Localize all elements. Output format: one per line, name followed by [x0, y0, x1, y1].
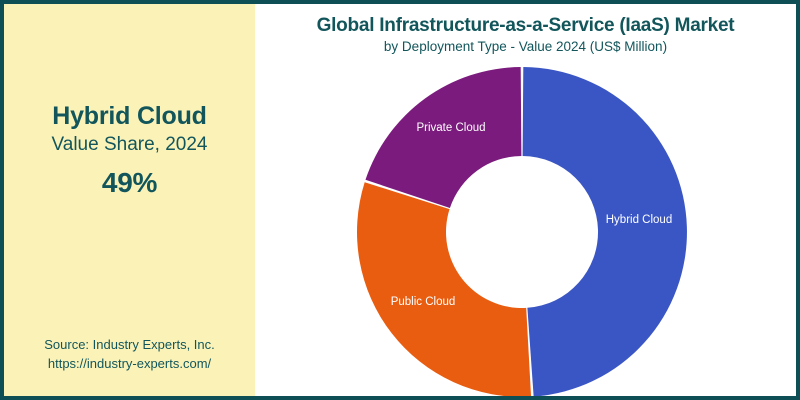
slice-label-private-cloud: Private Cloud	[416, 122, 485, 134]
donut-chart: Hybrid CloudPublic CloudPrivate Cloud	[255, 4, 800, 396]
highlight-panel: Hybrid Cloud Value Share, 2024 49% Sourc…	[4, 4, 255, 396]
donut-slice-group	[357, 67, 687, 396]
slice-label-public-cloud: Public Cloud	[391, 296, 456, 308]
callout-subtitle: Value Share, 2024	[4, 132, 255, 159]
source-attribution: Source: Industry Experts, Inc. https://i…	[4, 336, 255, 374]
source-text: Source: Industry Experts, Inc.	[4, 336, 255, 355]
callout-value: 49%	[4, 167, 255, 199]
chart-panel: Global Infrastructure-as-a-Service (IaaS…	[255, 4, 796, 396]
donut-chart-container: Hybrid CloudPublic CloudPrivate Cloud	[255, 4, 800, 396]
source-url[interactable]: https://industry-experts.com/	[4, 355, 255, 374]
callout-title: Hybrid Cloud	[4, 102, 255, 131]
key-stat-callout: Hybrid Cloud Value Share, 2024 49%	[4, 102, 255, 199]
donut-slice-private-cloud[interactable]	[365, 67, 521, 208]
infographic-root: Hybrid Cloud Value Share, 2024 49% Sourc…	[0, 0, 800, 400]
slice-label-hybrid-cloud: Hybrid Cloud	[606, 214, 672, 226]
donut-slice-hybrid-cloud[interactable]	[523, 67, 687, 396]
donut-slice-public-cloud[interactable]	[357, 182, 531, 396]
